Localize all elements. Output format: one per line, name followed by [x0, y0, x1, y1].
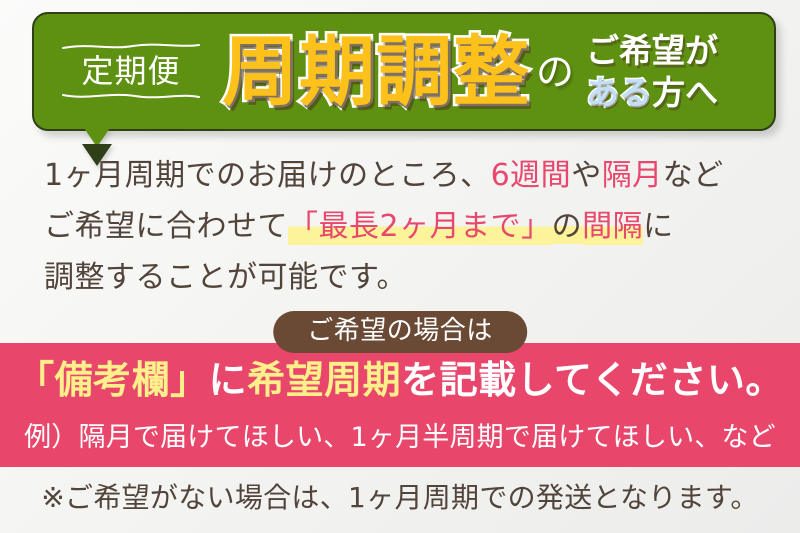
header-subtitle-line2-accent: ある — [586, 73, 652, 112]
header-subtitle-line2: ある方へ — [586, 72, 718, 114]
body-emphasis-every-other-month: 隔月 — [602, 158, 663, 193]
promotional-banner: 定期便 周期調整 の ご希望が ある方へ 1ヶ月周期でのお届けのところ、6週間や… — [0, 0, 800, 533]
wavy-line-bottom-icon — [61, 91, 201, 100]
header-subtitle-line1: ご希望が — [586, 30, 718, 72]
body-line-1: 1ヶ月周期でのお届けのところ、6週間や隔月など — [44, 150, 760, 201]
pink-example-text: 例）隔月で届けてほしい、1ヶ月半周期で届けてほしい、など — [0, 420, 800, 456]
header-subtitle-block: ご希望が ある方へ — [586, 30, 718, 114]
body-line-1-part-b: や — [571, 158, 602, 193]
header-speech-bubble: 定期便 周期調整 の ご希望が ある方へ — [32, 12, 776, 131]
pink-headline: 「備考欄」に希望周期を記載してください。 — [0, 355, 800, 405]
wavy-line-top-icon — [61, 42, 201, 51]
body-paragraph: 1ヶ月周期でのお届けのところ、6週間や隔月など ご希望に合わせて「最長2ヶ月まで… — [44, 150, 760, 303]
body-emphasis-max-two-months: 「最長2ヶ月まで」 — [288, 209, 552, 245]
pink-headline-remarks-field: 「備考欄」 — [16, 358, 209, 402]
header-subtitle-line2-tail: 方へ — [652, 73, 718, 112]
body-line-1-part-c: など — [663, 158, 724, 193]
pink-headline-particle-1: に — [209, 358, 248, 402]
body-line-2-part-a: ご希望に合わせて — [44, 209, 288, 244]
header-title-particle: の — [536, 48, 574, 96]
subscription-label: 定期便 — [56, 51, 206, 91]
header-panel: 定期便 周期調整 の ご希望が ある方へ — [32, 12, 776, 131]
body-line-2-part-b: の — [552, 209, 583, 244]
request-case-badge: ご希望の場合は — [273, 311, 527, 353]
body-line-2: ご希望に合わせて「最長2ヶ月まで」の間隔に — [44, 201, 760, 252]
body-emphasis-six-weeks: 6週間 — [491, 158, 572, 193]
header-content: 定期便 周期調整 の ご希望が ある方へ — [34, 14, 774, 129]
speech-bubble-tail-icon — [84, 128, 110, 147]
body-line-2-part-c: に — [643, 209, 674, 244]
pink-headline-tail: を記載してください。 — [401, 358, 784, 402]
footer-note: ※ご希望がない場合は、1ヶ月周期での発送となります。 — [0, 479, 800, 517]
pink-headline-desired-cycle: 希望周期 — [247, 358, 401, 402]
body-line-3: 調整することが可能です。 — [44, 252, 760, 303]
subscription-label-block: 定期便 — [56, 33, 206, 110]
body-emphasis-interval: 間隔 — [582, 209, 643, 245]
header-title: 周期調整 — [222, 24, 530, 120]
